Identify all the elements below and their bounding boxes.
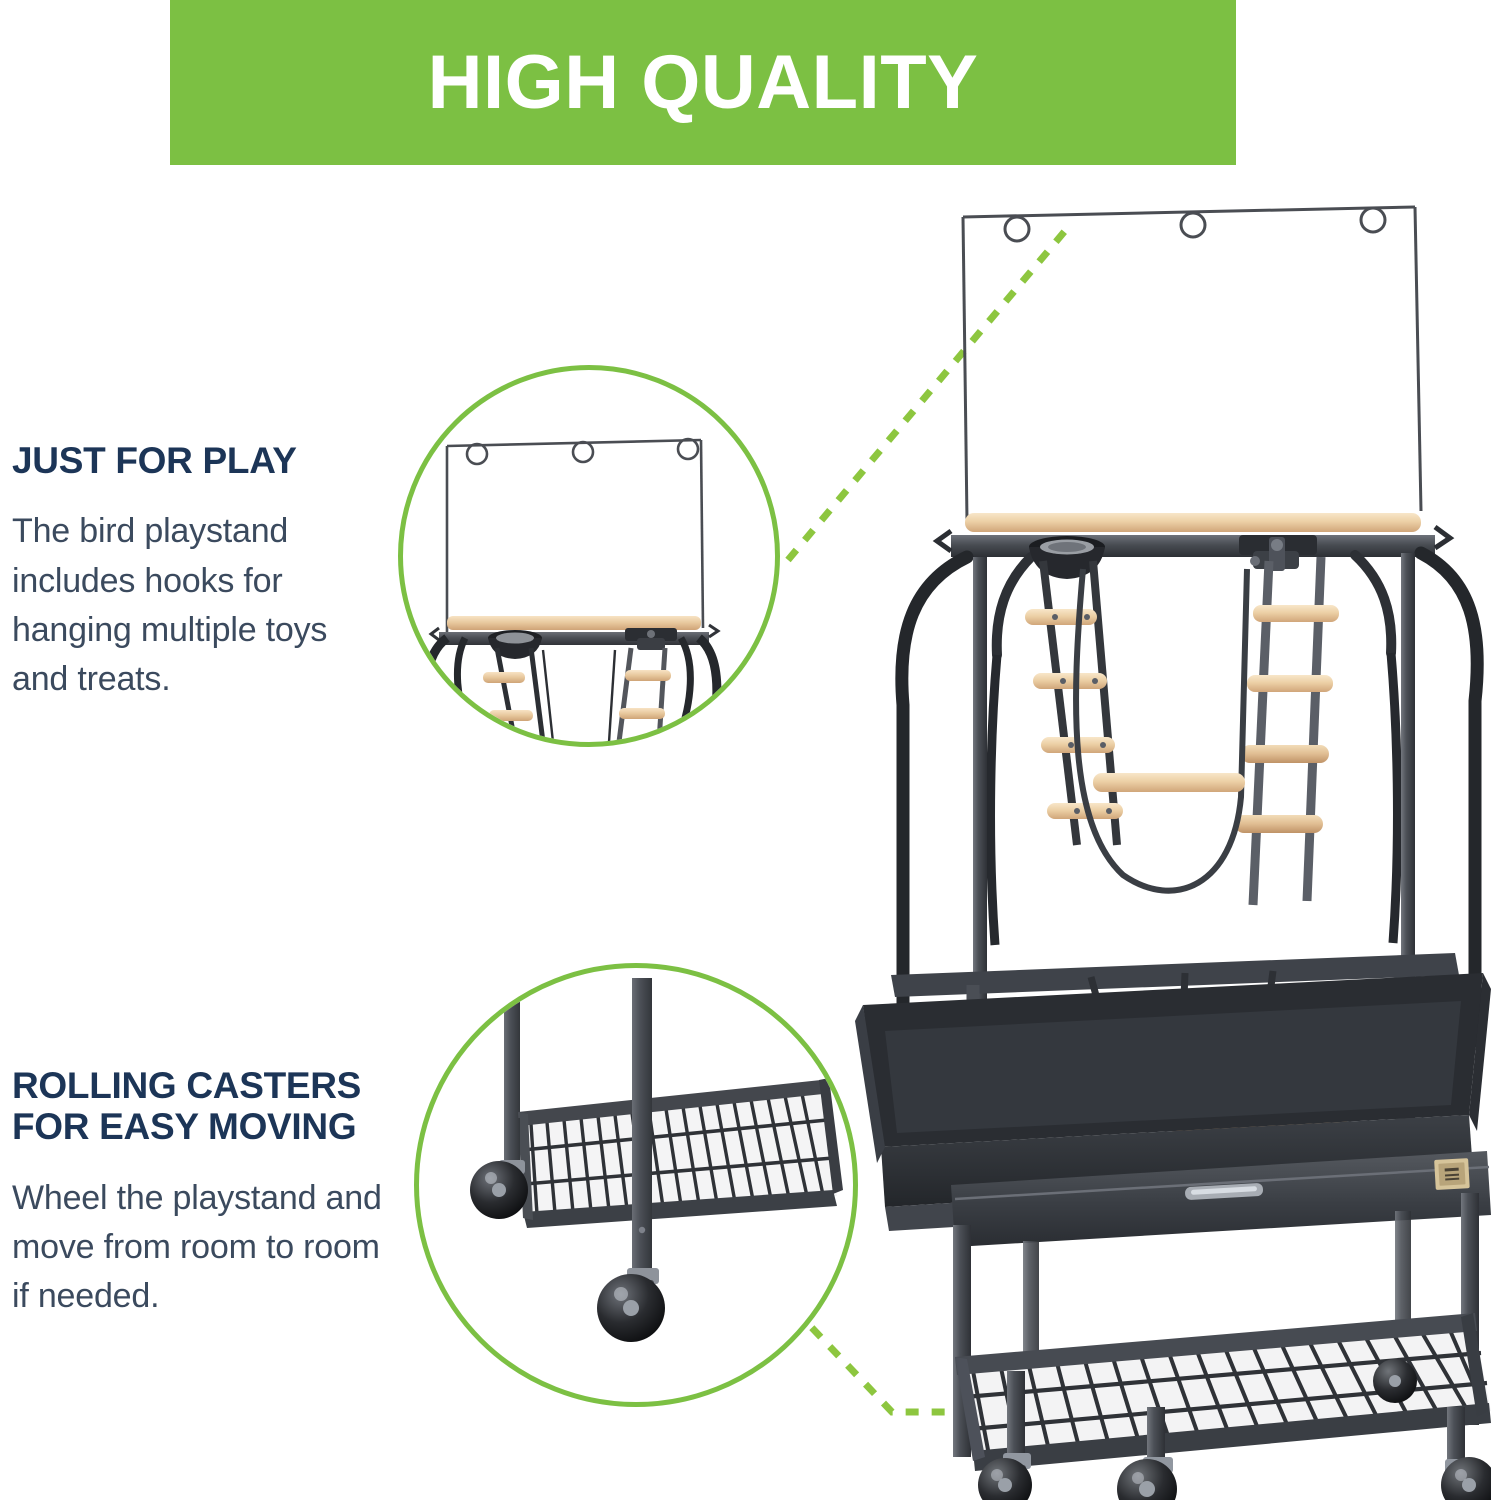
- ladder-left: [483, 648, 543, 742]
- feeding-cup-clamp-right: [1239, 535, 1317, 571]
- feature-body-play: The bird playstand includes hooks for ha…: [12, 507, 390, 704]
- feature-title-casters: ROLLING CASTERS FOR EASY MOVING: [12, 1065, 390, 1148]
- caster-left: [470, 1160, 528, 1219]
- top-steel-rail: [951, 535, 1435, 557]
- feature-title-play: JUST FOR PLAY: [12, 440, 390, 481]
- callout-hooks-art: [403, 370, 775, 742]
- cup-clamp-right: [625, 628, 677, 650]
- banner-title: HIGH QUALITY: [428, 45, 979, 121]
- feature-block-play: JUST FOR PLAY The bird playstand include…: [12, 440, 390, 705]
- feature-body-casters: Wheel the playstand and move from room t…: [12, 1174, 390, 1322]
- callout-circle-hooks: [398, 365, 780, 747]
- top-wood-perch: [965, 513, 1421, 532]
- hook-rings: [1005, 208, 1385, 241]
- feature-block-casters: ROLLING CASTERS FOR EASY MOVING Wheel th…: [12, 1065, 390, 1322]
- hook-frame: [963, 207, 1421, 521]
- caster-right: [1441, 1457, 1491, 1500]
- caster-front: [597, 1268, 665, 1342]
- caster-rear-right: [1373, 1359, 1417, 1403]
- hook-ring-group: [467, 439, 698, 464]
- brand-badge: [1434, 1158, 1470, 1190]
- caster-front-center: [1117, 1457, 1177, 1500]
- ladder-right: [619, 648, 671, 742]
- header-banner: HIGH QUALITY: [170, 0, 1236, 165]
- product-image-bird-playstand: [855, 185, 1491, 1500]
- callout-circle-casters: [414, 963, 858, 1407]
- ladder-right: [1235, 557, 1339, 905]
- callout-casters-art: [419, 968, 853, 1402]
